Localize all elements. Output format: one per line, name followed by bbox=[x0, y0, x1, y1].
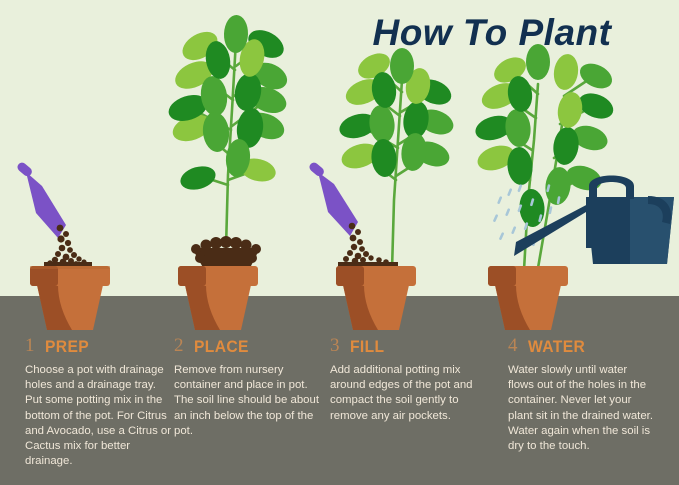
step-title-4: WATER bbox=[528, 337, 585, 356]
step-title-3: FILL bbox=[350, 337, 384, 356]
step-heading-1: 1 PREP bbox=[25, 336, 175, 358]
pot bbox=[178, 266, 258, 330]
illustration-step-4 bbox=[462, 0, 679, 340]
step-body-2: Remove from nursery container and place … bbox=[174, 363, 322, 439]
step-body-4: Water slowly until water flows out of th… bbox=[508, 363, 656, 454]
step-heading-3: 3 FILL bbox=[330, 336, 480, 358]
pot bbox=[488, 266, 568, 330]
step-column-4: 4 WATER Water slowly until water flows o… bbox=[508, 336, 658, 454]
step-heading-4: 4 WATER bbox=[508, 336, 658, 358]
infographic-canvas: How To Plant bbox=[0, 0, 679, 485]
illustration-step-2 bbox=[148, 0, 318, 340]
step-number-2: 2 bbox=[174, 336, 184, 356]
pot bbox=[336, 266, 416, 330]
step-title-2: PLACE bbox=[194, 337, 249, 356]
pot bbox=[30, 266, 110, 330]
step-body-1: Choose a pot with drainage holes and a d… bbox=[25, 363, 173, 469]
step-title-1: PREP bbox=[45, 337, 89, 356]
step-column-3: 3 FILL Add additional potting mix around… bbox=[330, 336, 480, 424]
step-body-3: Add additional potting mix around edges … bbox=[330, 363, 478, 424]
illustration-step-1 bbox=[0, 0, 170, 340]
step-column-1: 1 PREP Choose a pot with drainage holes … bbox=[25, 336, 175, 469]
step-heading-2: 2 PLACE bbox=[174, 336, 324, 358]
plant-leaves bbox=[165, 15, 291, 194]
soil-stream bbox=[44, 225, 92, 269]
step-number-4: 4 bbox=[508, 336, 518, 356]
step-number-3: 3 bbox=[330, 336, 340, 356]
step-number-1: 1 bbox=[25, 336, 35, 356]
step-column-2: 2 PLACE Remove from nursery container an… bbox=[174, 336, 324, 439]
illustration-step-3 bbox=[300, 0, 470, 340]
